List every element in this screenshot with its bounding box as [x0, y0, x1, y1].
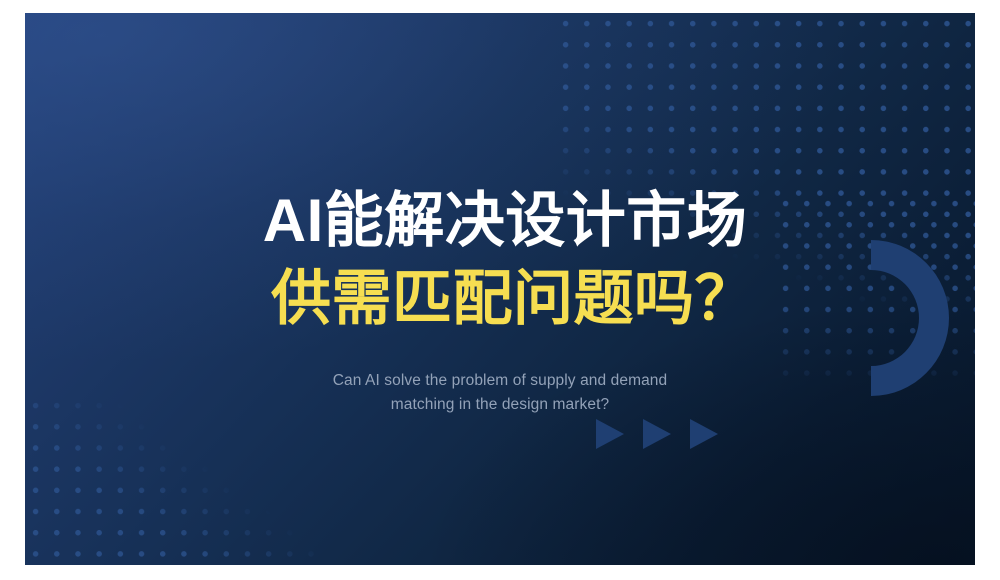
- title-text-block: AI能解决设计市场 供需匹配问题吗？ Can AI solve the prob…: [25, 191, 975, 417]
- play-triangle-2-icon: [643, 419, 671, 449]
- subtitle-line-2: matching in the design market?: [25, 393, 975, 417]
- subtitle-line-1: Can AI solve the problem of supply and d…: [25, 369, 975, 393]
- dots-bottom-left: [25, 395, 325, 565]
- play-triangle-3-icon: [690, 419, 718, 449]
- title-banner: AI能解决设计市场 供需匹配问题吗？ Can AI solve the prob…: [25, 13, 975, 565]
- slide-frame: AI能解决设计市场 供需匹配问题吗？ Can AI solve the prob…: [0, 0, 1000, 580]
- play-triangle-1-icon: [596, 419, 624, 449]
- play-triangle-group: [596, 419, 718, 449]
- headline-line-1: AI能解决设计市场: [25, 191, 975, 251]
- subtitle: Can AI solve the problem of supply and d…: [25, 369, 975, 417]
- headline-line-2: 供需匹配问题吗？: [25, 269, 975, 329]
